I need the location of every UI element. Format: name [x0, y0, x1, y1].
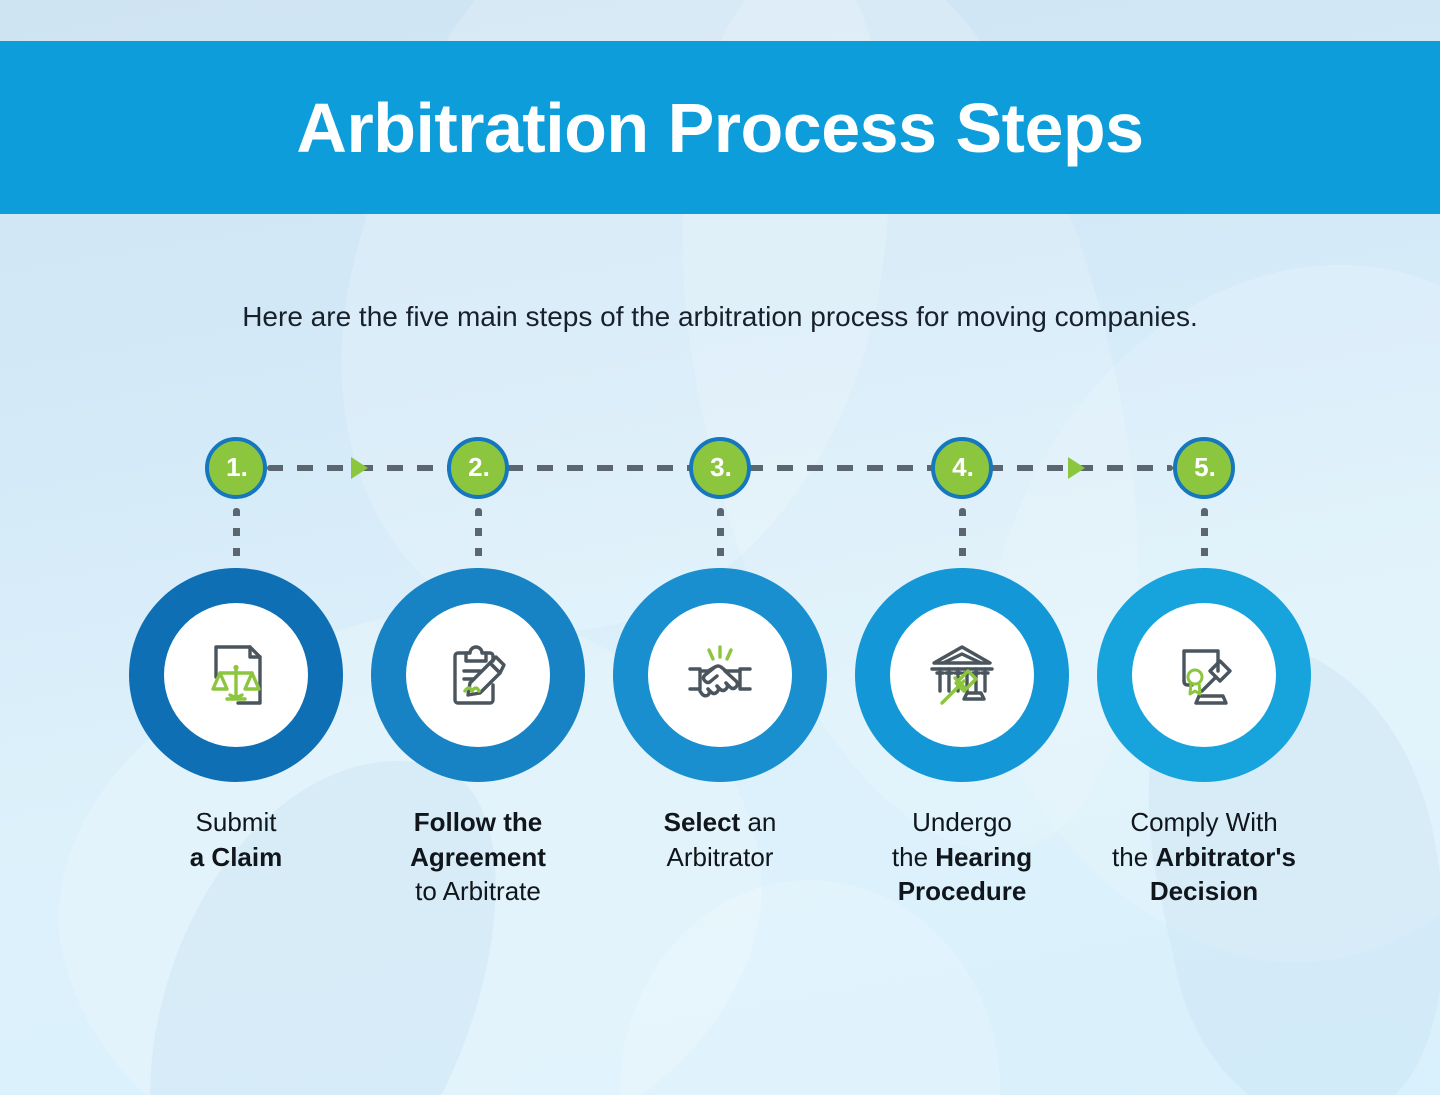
- caption-line: the: [1112, 842, 1148, 872]
- step-number-label: 1.: [226, 454, 248, 480]
- step-number-label: 3.: [710, 454, 732, 480]
- step-disc-2: [371, 568, 585, 782]
- dotted-drop-connector: [717, 508, 724, 570]
- icon-well: [648, 603, 792, 747]
- step-card-2[interactable]: Follow the Agreement to Arbitrate: [353, 568, 603, 909]
- caption-line-bold: Hearing: [935, 842, 1032, 872]
- icon-well: [406, 603, 550, 747]
- dotted-drop-connector: [475, 508, 482, 570]
- step-number-1[interactable]: 1.: [205, 437, 267, 499]
- step-card-5[interactable]: Comply With the Arbitrator's Decision: [1079, 568, 1329, 909]
- caption-line: to Arbitrate: [415, 876, 541, 906]
- handshake-icon: [678, 633, 762, 717]
- caption-line: Comply With: [1130, 807, 1277, 837]
- step-cards: Submit a Claim: [0, 568, 1440, 948]
- icon-well: [1132, 603, 1276, 747]
- dotted-drop-connector: [233, 508, 240, 570]
- subtitle-text: Here are the five main steps of the arbi…: [0, 300, 1440, 334]
- icon-well: [890, 603, 1034, 747]
- step-card-3[interactable]: Select an Arbitrator: [595, 568, 845, 874]
- step-disc-4: [855, 568, 1069, 782]
- caption-line-bold: Select: [664, 807, 741, 837]
- caption-line: an: [747, 807, 776, 837]
- step-number-label: 2.: [468, 454, 490, 480]
- dotted-drop-connector: [1201, 508, 1208, 570]
- clipboard-pencil-icon: [436, 633, 520, 717]
- step-card-1[interactable]: Submit a Claim: [111, 568, 361, 874]
- certificate-gavel-icon: [1162, 633, 1246, 717]
- arrow-right-icon: [351, 457, 368, 479]
- caption-line-bold: a Claim: [190, 842, 283, 872]
- main-content: Here are the five main steps of the arbi…: [0, 0, 1440, 1095]
- step-caption-3: Select an Arbitrator: [595, 805, 845, 874]
- step-number-3[interactable]: 3.: [689, 437, 751, 499]
- courthouse-gavel-icon: [920, 633, 1004, 717]
- dotted-drop-connector: [959, 508, 966, 570]
- caption-line: Arbitrator: [667, 842, 774, 872]
- step-number-5[interactable]: 5.: [1173, 437, 1235, 499]
- step-disc-3: [613, 568, 827, 782]
- caption-line-bold: Procedure: [898, 876, 1027, 906]
- caption-line: Undergo: [912, 807, 1012, 837]
- step-number-4[interactable]: 4.: [931, 437, 993, 499]
- caption-line: Submit: [196, 807, 277, 837]
- step-disc-1: [129, 568, 343, 782]
- caption-line-bold: Follow the: [414, 807, 543, 837]
- step-caption-5: Comply With the Arbitrator's Decision: [1079, 805, 1329, 909]
- caption-line-bold: Agreement: [410, 842, 546, 872]
- icon-well: [164, 603, 308, 747]
- caption-line-bold: Decision: [1150, 876, 1258, 906]
- step-caption-2: Follow the Agreement to Arbitrate: [353, 805, 603, 909]
- caption-line: the: [892, 842, 928, 872]
- step-disc-5: [1097, 568, 1311, 782]
- step-number-label: 4.: [952, 454, 974, 480]
- step-caption-1: Submit a Claim: [111, 805, 361, 874]
- step-number-2[interactable]: 2.: [447, 437, 509, 499]
- document-scales-icon: [194, 633, 278, 717]
- step-caption-4: Undergo the Hearing Procedure: [837, 805, 1087, 909]
- step-number-rail: 1. 2. 3. 4. 5.: [205, 437, 1235, 499]
- caption-line-bold: Arbitrator's: [1155, 842, 1296, 872]
- step-card-4[interactable]: Undergo the Hearing Procedure: [837, 568, 1087, 909]
- arrow-right-icon: [1068, 457, 1085, 479]
- step-number-label: 5.: [1194, 454, 1216, 480]
